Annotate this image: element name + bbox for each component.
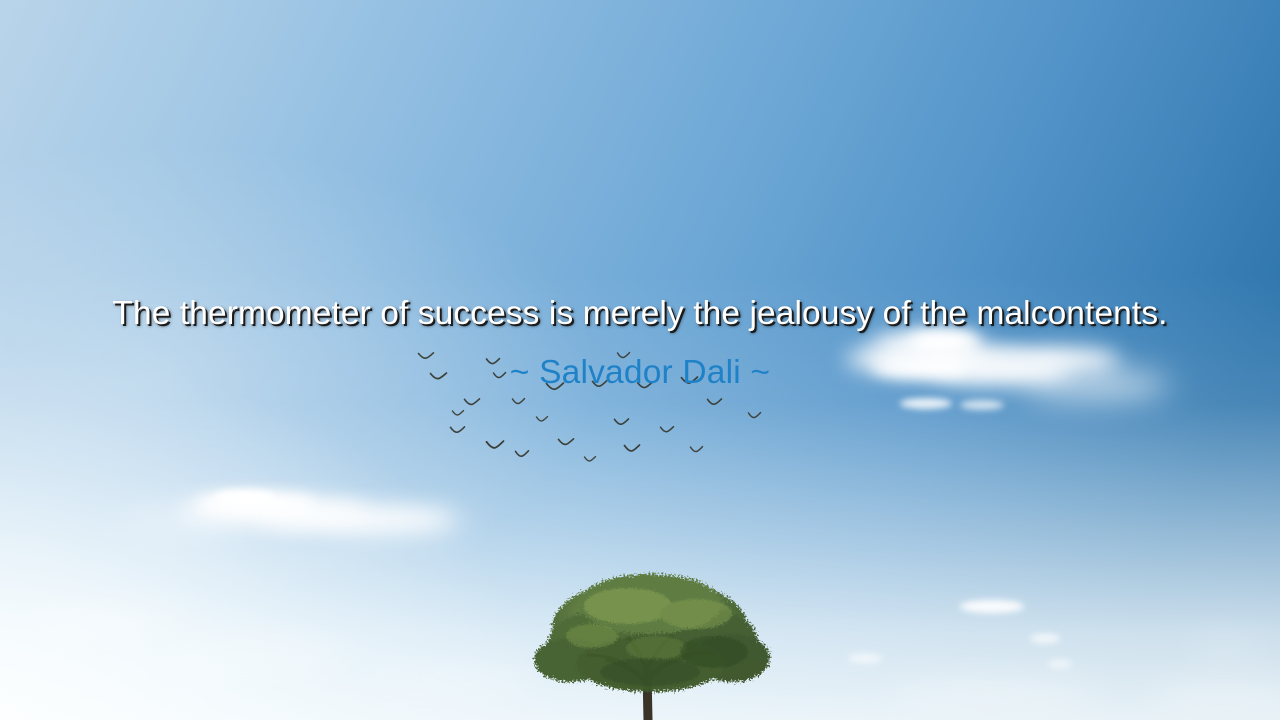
bird-icon — [584, 456, 596, 463]
bird-icon — [614, 418, 629, 427]
bird-icon — [660, 426, 674, 434]
bird-icon — [450, 426, 465, 435]
bird-icon — [690, 446, 703, 454]
quote-card-canvas: The thermometer of success is merely the… — [0, 0, 1280, 720]
quote-text: The thermometer of success is merely the… — [110, 292, 1170, 336]
bird-icon — [452, 410, 464, 417]
bird-icon — [512, 398, 525, 406]
quote-block: The thermometer of success is merely the… — [0, 292, 1280, 394]
bird-icon — [536, 416, 548, 423]
bird-icon — [748, 412, 761, 420]
quote-author: ~ Salvador Dali ~ — [60, 352, 1220, 394]
tree-illustration — [500, 560, 800, 720]
bird-icon — [486, 440, 504, 451]
bird-icon — [624, 444, 640, 454]
bird-icon — [558, 438, 574, 447]
bird-icon — [707, 398, 722, 407]
bird-icon — [464, 398, 480, 407]
bird-icon — [515, 450, 529, 459]
